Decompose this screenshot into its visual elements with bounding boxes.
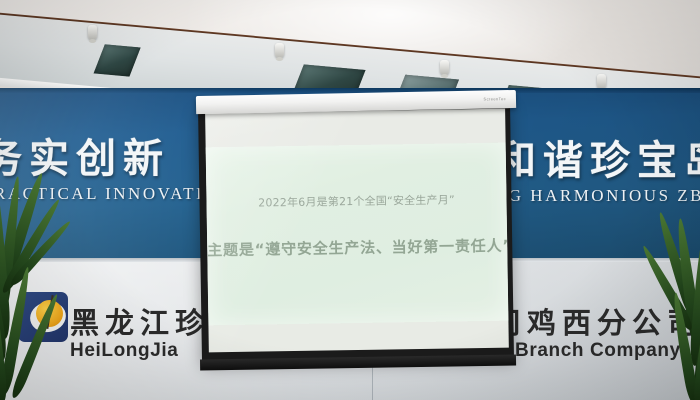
screen-brand-label: ScreenTec bbox=[483, 96, 506, 101]
ceiling-spotlight bbox=[440, 60, 449, 75]
slide-text-line-2: 主题是“遵守安全生产法、当好第一责任人” bbox=[207, 235, 507, 261]
conference-room-photo: 务实创新 RACTICAL INNOVATI 和谐珍宝岛 NG HARMONIO… bbox=[0, 0, 700, 400]
ceiling-vent-panel bbox=[94, 44, 141, 76]
projector-screen[interactable]: 2022年6月是第21个全国“安全生产月” 主题是“遵守安全生产法、当好第一责任… bbox=[198, 103, 514, 362]
ceiling-spotlight bbox=[275, 43, 284, 58]
projector-screen-fabric: 2022年6月是第21个全国“安全生产月” 主题是“遵守安全生产法、当好第一责任… bbox=[205, 109, 509, 353]
slide-text-line-1: 2022年6月是第21个全国“安全生产月” bbox=[206, 191, 506, 212]
ceiling-spotlight bbox=[88, 25, 97, 40]
banner-slogan-right-chinese: 和谐珍宝岛 bbox=[496, 128, 700, 186]
potted-palm-right bbox=[624, 210, 700, 400]
ceiling-spotlight bbox=[597, 74, 606, 89]
banner-slogan-right-english: NG HARMONIOUS ZBD bbox=[494, 186, 700, 206]
projected-slide: 2022年6月是第21个全国“安全生产月” 主题是“遵守安全生产法、当好第一责任… bbox=[206, 143, 509, 326]
potted-palm-left bbox=[0, 170, 92, 400]
